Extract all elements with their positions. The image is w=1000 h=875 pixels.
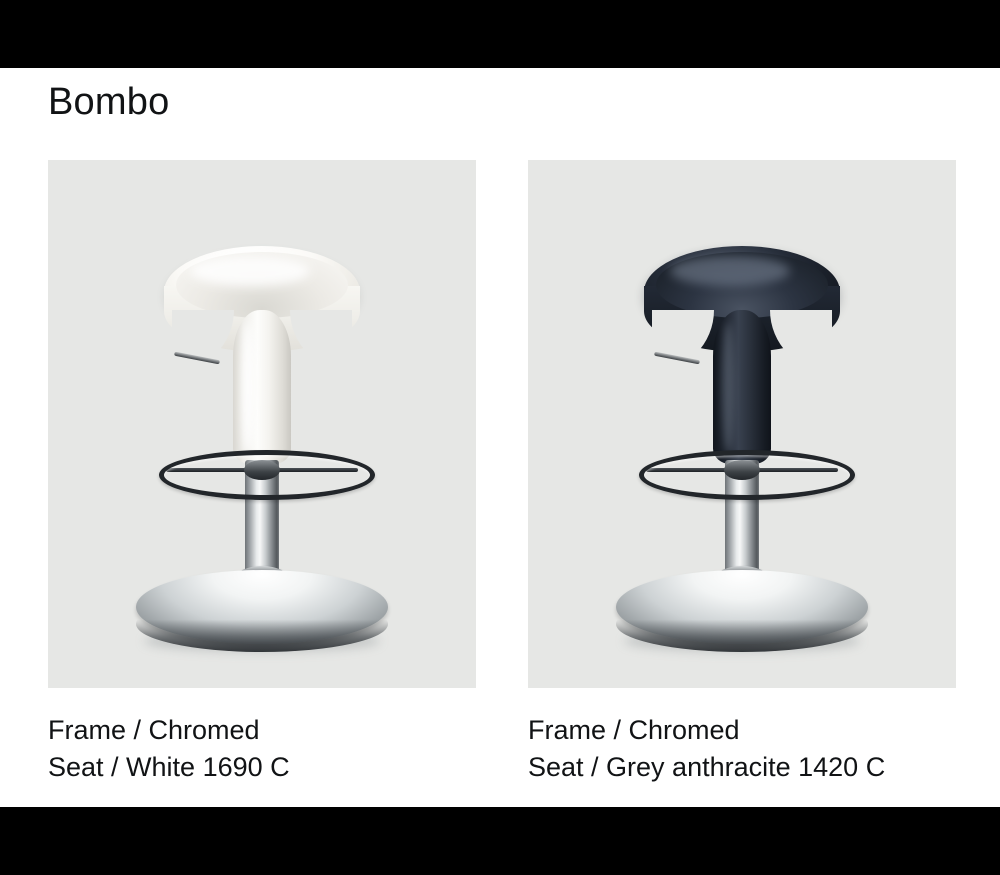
product-photo-grey-anthracite[interactable] bbox=[528, 160, 956, 688]
product-photo-white[interactable] bbox=[48, 160, 476, 688]
chrome-base-rim bbox=[136, 596, 388, 652]
bombo-stool-anthracite-illustration bbox=[528, 160, 956, 688]
footrest-hub bbox=[244, 460, 280, 480]
product-grid: Frame / Chromed Seat / White 1690 C bbox=[48, 160, 952, 780]
stem-flare-right bbox=[770, 310, 832, 372]
letterbox-bottom bbox=[0, 807, 1000, 875]
stem-flare-left bbox=[652, 310, 714, 372]
product-card-bombo-grey-anthracite[interactable]: Frame / Chromed Seat / Grey anthracite 1… bbox=[528, 160, 956, 688]
caption-frame-line: Frame / Chromed bbox=[528, 712, 885, 749]
caption-frame-line: Frame / Chromed bbox=[48, 712, 290, 749]
footrest-hub bbox=[724, 460, 760, 480]
bombo-stool-white-illustration bbox=[48, 160, 476, 688]
stem-highlight bbox=[242, 322, 254, 452]
product-caption-white: Frame / Chromed Seat / White 1690 C bbox=[48, 712, 290, 786]
page-title: Bombo bbox=[48, 80, 169, 124]
seat-highlight bbox=[670, 256, 790, 286]
screenshot-stage: Bombo bbox=[0, 0, 1000, 875]
letterbox-top bbox=[0, 0, 1000, 68]
caption-seat-line: Seat / Grey anthracite 1420 C bbox=[528, 749, 885, 786]
product-card-bombo-white[interactable]: Frame / Chromed Seat / White 1690 C bbox=[48, 160, 476, 688]
chrome-base-rim bbox=[616, 596, 868, 652]
product-caption-grey-anthracite: Frame / Chromed Seat / Grey anthracite 1… bbox=[528, 712, 885, 786]
caption-seat-line: Seat / White 1690 C bbox=[48, 749, 290, 786]
seat-highlight bbox=[190, 256, 310, 286]
stem-flare-left bbox=[172, 310, 234, 372]
catalog-page: Bombo bbox=[0, 68, 1000, 807]
stem-flare-right bbox=[290, 310, 352, 372]
stem-highlight bbox=[722, 322, 734, 452]
